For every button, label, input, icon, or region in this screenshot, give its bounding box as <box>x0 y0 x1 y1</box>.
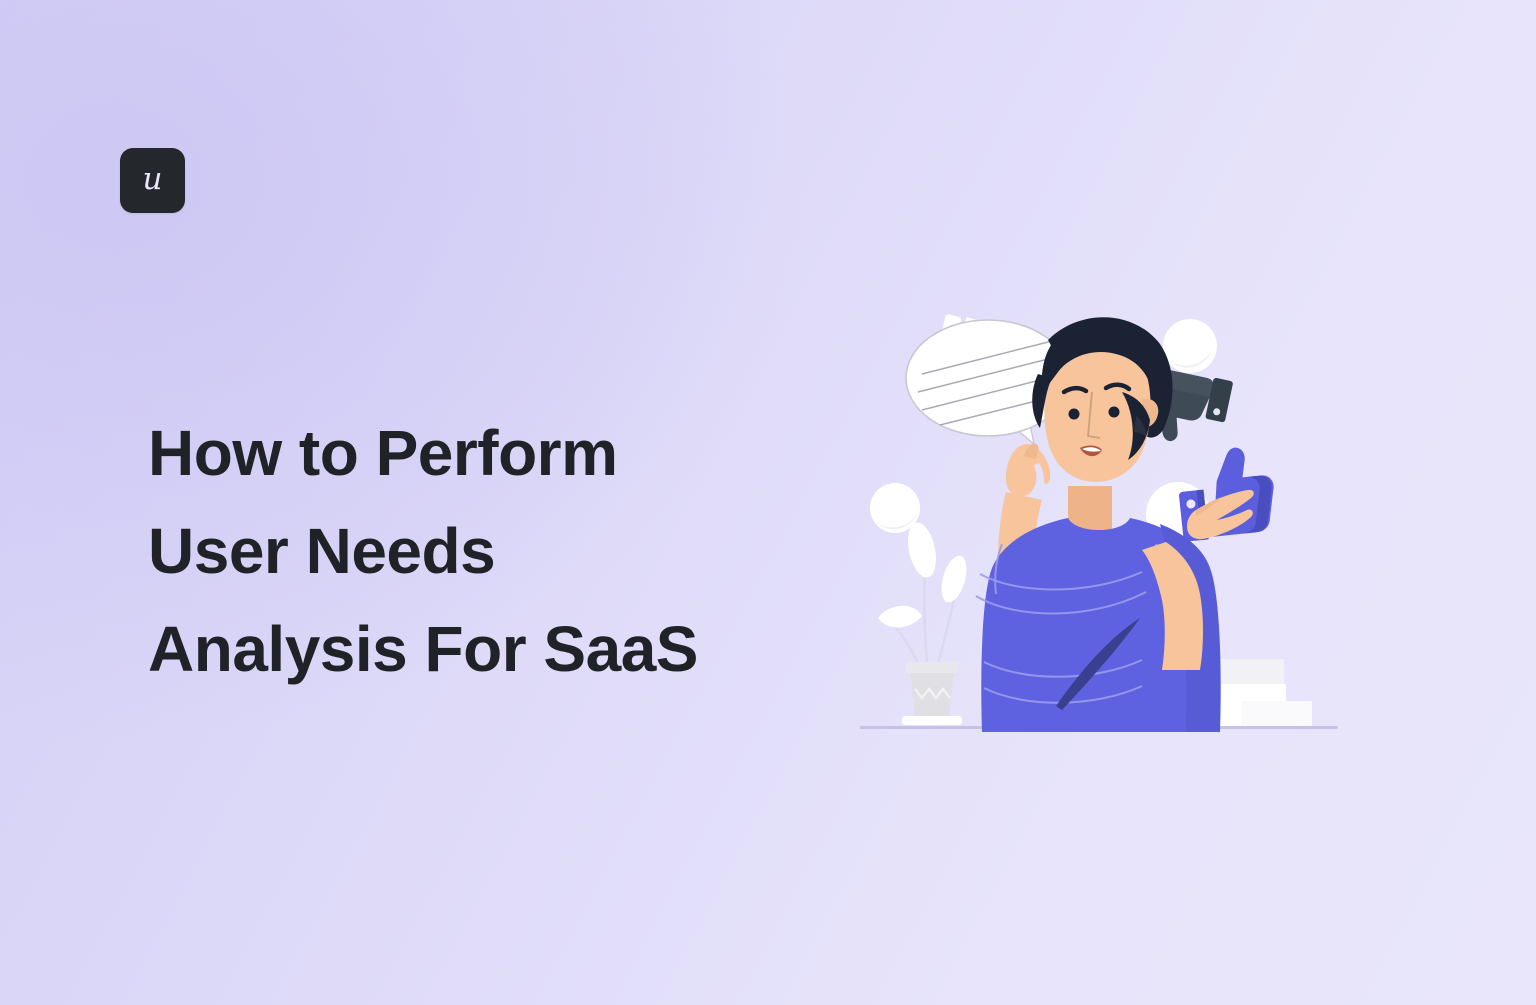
eye-right <box>1109 407 1120 418</box>
hero-illustration <box>860 296 1360 746</box>
page-title-line-3: Analysis For SaaS <box>148 600 768 698</box>
eye-left <box>1069 409 1080 420</box>
potted-plant-icon <box>878 520 971 725</box>
illustration-svg <box>860 296 1360 746</box>
userpilot-logo[interactable]: u <box>120 148 185 213</box>
cover-canvas: u How to Perform User Needs Analysis For… <box>0 0 1536 1005</box>
page-title-line-2: User Needs <box>148 502 768 600</box>
page-title: How to Perform User Needs Analysis For S… <box>148 404 768 698</box>
logo-u-glyph: u <box>143 164 163 195</box>
page-title-line-1: How to Perform <box>148 404 768 502</box>
